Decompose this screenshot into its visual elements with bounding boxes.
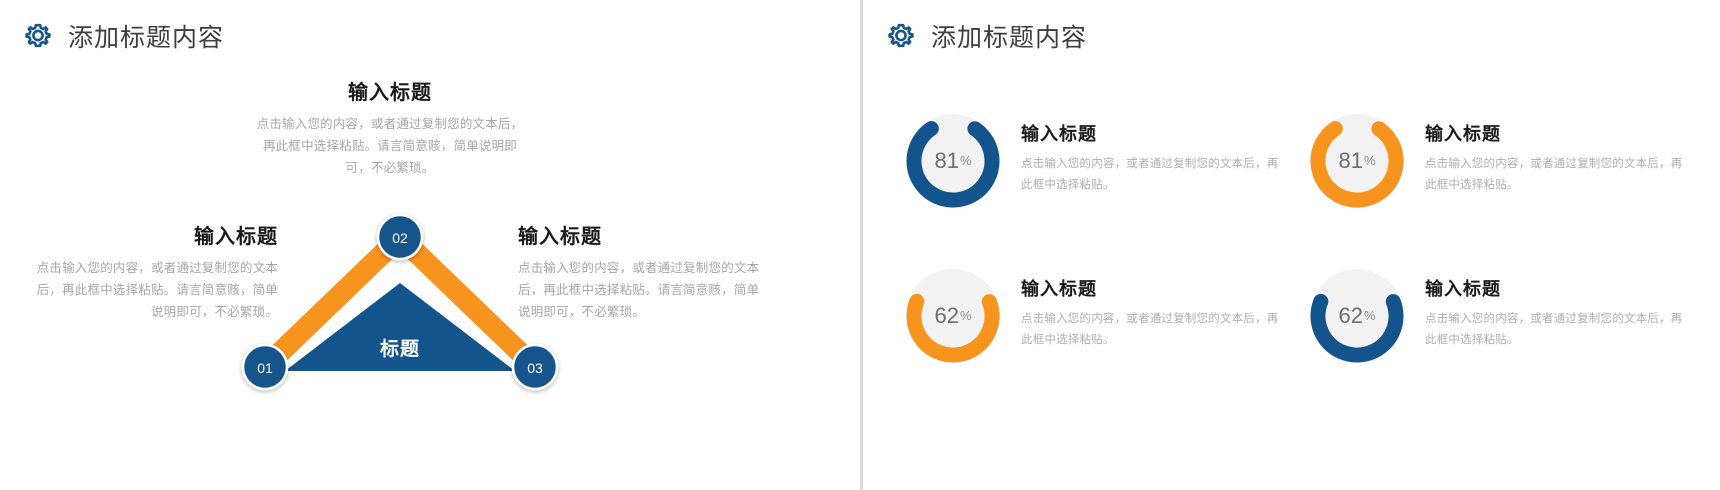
donut-stat-item: 81% 输入标题 点击输入您的内容，或者通过复制您的文本后，再此框中选择粘贴。 xyxy=(1307,88,1693,233)
diagram-label-top-body: 点击输入您的内容，或者通过复制您的文本后，再此框中选择粘贴。请言简意赅，简单说明… xyxy=(255,114,525,180)
diagram-label-top: 输入标题 点击输入您的内容，或者通过复制您的文本后，再此框中选择粘贴。请言简意赅… xyxy=(255,82,525,180)
slide-triangle-diagram: 添加标题内容 输入标题 点击输入您的内容，或者通过复制您的文本后，再此框中选择粘… xyxy=(0,0,860,490)
diagram-label-top-title: 输入标题 xyxy=(255,82,525,104)
node-02-label: 02 xyxy=(392,230,408,246)
donut-stats-grid: 81% 输入标题 点击输入您的内容，或者通过复制您的文本后，再此框中选择粘贴。 xyxy=(903,88,1693,388)
node-03-label: 03 xyxy=(527,360,543,376)
donut-chart-3: 62% xyxy=(1307,266,1407,366)
donut-title-1: 输入标题 xyxy=(1425,125,1693,145)
donut-chart-2: 62% xyxy=(903,266,1003,366)
donut-text-0: 输入标题 点击输入您的内容，或者通过复制您的文本后，再此框中选择粘贴。 xyxy=(1021,125,1289,196)
donut-body-3: 点击输入您的内容，或者通过复制您的文本后，再此框中选择粘贴。 xyxy=(1425,309,1693,352)
page-title: 添加标题内容 xyxy=(931,18,1087,54)
node-01-label: 01 xyxy=(257,360,273,376)
donut-chart-1: 81% xyxy=(1307,111,1407,211)
donut-title-2: 输入标题 xyxy=(1021,280,1289,300)
slide-donut-stats: 添加标题内容 81% 输入标题 点击输入您的内容，或者通过复制您的文本后，再此框… xyxy=(860,0,1720,490)
donut-text-3: 输入标题 点击输入您的内容，或者通过复制您的文本后，再此框中选择粘贴。 xyxy=(1425,280,1693,351)
donut-title-0: 输入标题 xyxy=(1021,125,1289,145)
donut-title-3: 输入标题 xyxy=(1425,280,1693,300)
gear-icon xyxy=(885,20,917,52)
donut-stat-item: 81% 输入标题 点击输入您的内容，或者通过复制您的文本后，再此框中选择粘贴。 xyxy=(903,88,1289,233)
triangle-diagram: 输入标题 点击输入您的内容，或者通过复制您的文本后，再此框中选择粘贴。请言简意赅… xyxy=(0,0,860,490)
donut-text-2: 输入标题 点击输入您的内容，或者通过复制您的文本后，再此框中选择粘贴。 xyxy=(1021,280,1289,351)
donut-body-1: 点击输入您的内容，或者通过复制您的文本后，再此框中选择粘贴。 xyxy=(1425,154,1693,197)
donut-text-1: 输入标题 点击输入您的内容，或者通过复制您的文本后，再此框中选择粘贴。 xyxy=(1425,125,1693,196)
donut-body-2: 点击输入您的内容，或者通过复制您的文本后，再此框中选择粘贴。 xyxy=(1021,309,1289,352)
donut-stat-item: 62% 输入标题 点击输入您的内容，或者通过复制您的文本后，再此框中选择粘贴。 xyxy=(903,243,1289,388)
slide-deck: 添加标题内容 输入标题 点击输入您的内容，或者通过复制您的文本后，再此框中选择粘… xyxy=(0,0,1720,490)
center-triangle-label: 标题 xyxy=(380,338,420,360)
slide-header-right: 添加标题内容 xyxy=(885,18,1087,54)
donut-stat-item: 62% 输入标题 点击输入您的内容，或者通过复制您的文本后，再此框中选择粘贴。 xyxy=(1307,243,1693,388)
donut-body-0: 点击输入您的内容，或者通过复制您的文本后，再此框中选择粘贴。 xyxy=(1021,154,1289,197)
triangle-graphic: 标题 02 01 03 xyxy=(195,195,605,425)
donut-chart-0: 81% xyxy=(903,111,1003,211)
